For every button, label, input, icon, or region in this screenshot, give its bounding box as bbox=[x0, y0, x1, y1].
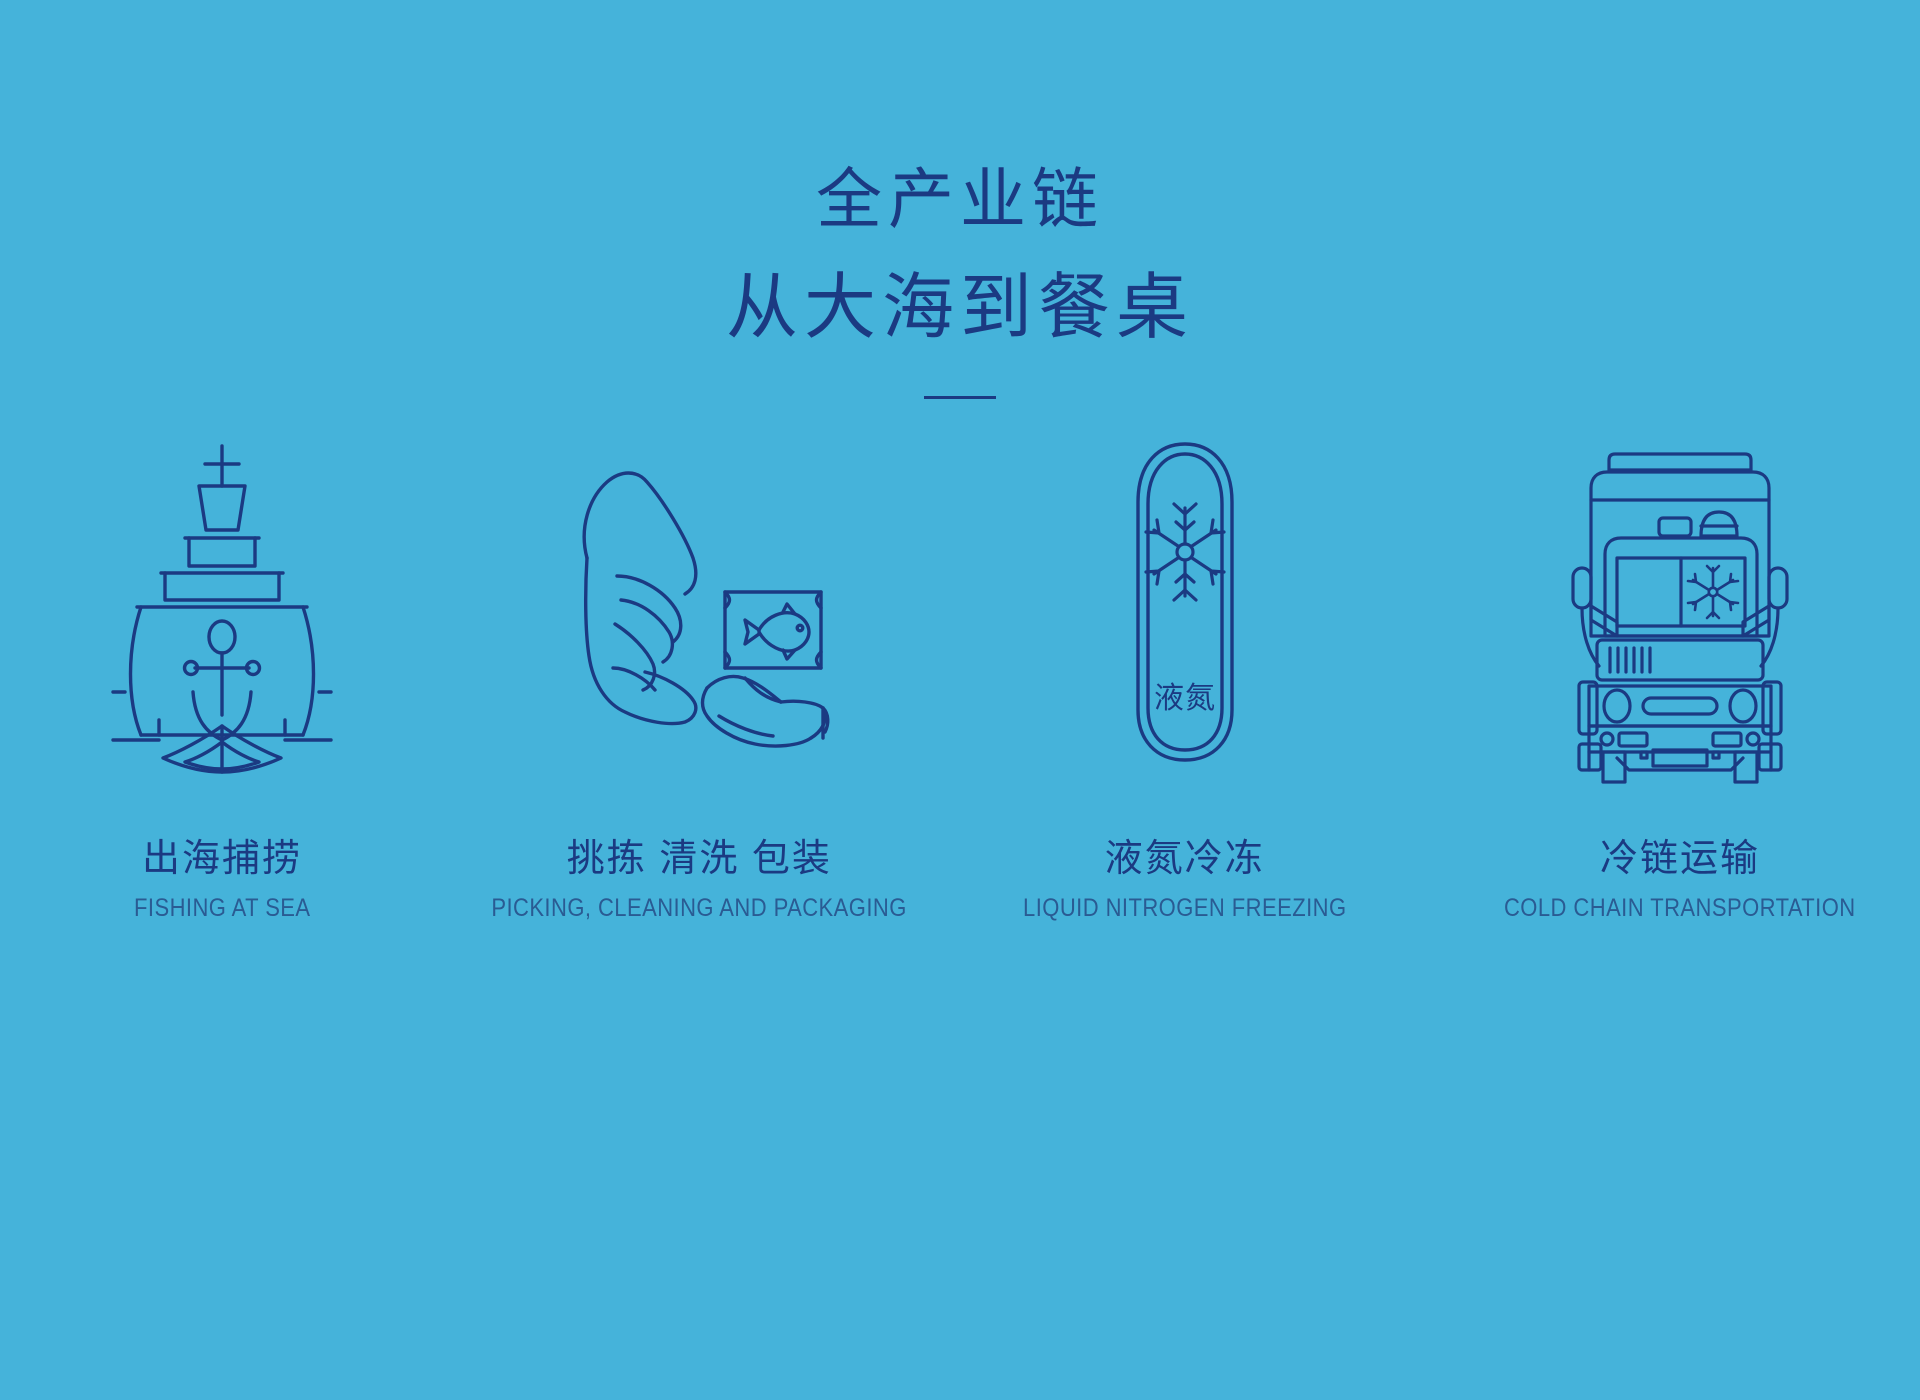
step-label-cn: 冷链运输 bbox=[1480, 840, 1880, 878]
page-title-primary: 全产业链 bbox=[0, 168, 1920, 234]
title-divider bbox=[924, 396, 996, 399]
step-label-cn: 出海捕捞 bbox=[122, 840, 323, 878]
step-caption: 出海捕捞 FISHING AT SEA bbox=[122, 840, 323, 921]
header: 全产业链 从大海到餐桌 bbox=[0, 0, 1920, 399]
snowflake-icon bbox=[1146, 504, 1224, 600]
process-steps: 出海捕捞 FISHING AT SEA bbox=[0, 430, 1920, 921]
step-picking-cleaning-packaging[interactable]: 挑拣 清洗 包装 PICKING, CLEANING AND PACKAGING bbox=[459, 430, 939, 921]
step-fishing-at-sea[interactable]: 出海捕捞 FISHING AT SEA bbox=[0, 430, 462, 921]
step-label-en: COLD CHAIN TRANSPORTATION bbox=[1504, 896, 1856, 921]
page-title-secondary: 从大海到餐桌 bbox=[0, 272, 1920, 344]
liquid-nitrogen-tank-icon: 液氮 bbox=[1110, 440, 1260, 770]
page-root: 全产业链 从大海到餐桌 bbox=[0, 0, 1920, 1400]
step-label-en: PICKING, CLEANING AND PACKAGING bbox=[492, 896, 907, 921]
hands-fish-package-icon bbox=[559, 440, 839, 770]
step-caption: 液氮冷冻 LIQUID NITROGEN FREEZING bbox=[1001, 840, 1369, 921]
snowflake-icon bbox=[1688, 566, 1738, 618]
step-icon-box bbox=[559, 430, 839, 770]
title-divider-wrap bbox=[0, 396, 1920, 399]
step-caption: 冷链运输 COLD CHAIN TRANSPORTATION bbox=[1480, 840, 1880, 921]
step-icon-box bbox=[107, 430, 337, 770]
step-icon-box bbox=[1555, 430, 1805, 770]
step-caption: 挑拣 清洗 包装 PICKING, CLEANING AND PACKAGING bbox=[463, 840, 935, 921]
step-label-cn: 液氮冷冻 bbox=[1001, 840, 1369, 878]
step-cold-chain-transportation[interactable]: 冷链运输 COLD CHAIN TRANSPORTATION bbox=[1440, 430, 1920, 921]
step-icon-box: 液氮 bbox=[1110, 430, 1260, 770]
fishing-boat-icon bbox=[107, 440, 337, 770]
cold-chain-truck-icon bbox=[1555, 440, 1805, 770]
step-label-en: FISHING AT SEA bbox=[134, 896, 311, 921]
step-label-cn: 挑拣 清洗 包装 bbox=[463, 840, 935, 878]
step-label-en: LIQUID NITROGEN FREEZING bbox=[1023, 896, 1346, 921]
tank-text-label: 液氮 bbox=[1154, 682, 1216, 715]
step-liquid-nitrogen-freezing[interactable]: 液氮 液氮冷冻 LIQUID NITROGEN FREEZING bbox=[945, 430, 1425, 921]
